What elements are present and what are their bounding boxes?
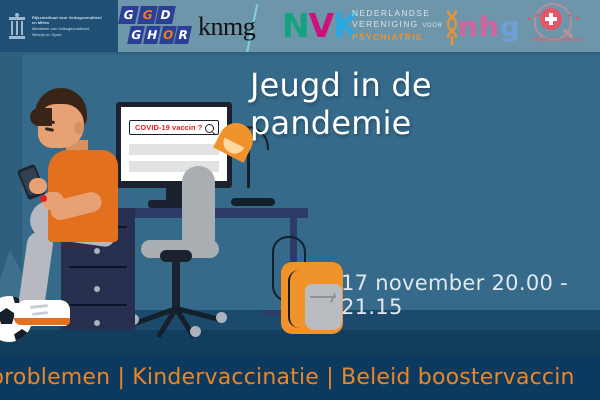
ggd-tile-d: D [155,6,176,24]
nvk-letter-v: V [309,6,334,45]
chair-caster [190,326,201,337]
knmg-logo: knmg [198,8,276,50]
chair-post [172,256,180,312]
nvk-letter-n: N [282,6,309,45]
nhg-part-g: g [500,10,521,43]
nvvp-line-2-small: VOOR [422,23,442,29]
medisch-contact-caption: Medischcontact.nl [522,37,594,43]
rivm-line-4: Welzijn en Sport [32,32,102,38]
search-icon[interactable] [205,124,214,133]
result-placeholder-1 [129,144,219,155]
ggd-ghor-logo: G G D G H O R [120,6,192,46]
partner-logo-band: Rijksinstituut voor Volksgezondheid en M… [0,0,600,52]
medical-cross-icon [540,8,562,30]
rivm-logo-text: Rijksinstituut voor Volksgezondheid en M… [32,15,102,37]
ghor-tile-g: G [127,26,145,44]
rivm-logo: Rijksinstituut voor Volksgezondheid en M… [0,0,118,52]
ghor-tile-h: H [143,26,161,44]
notification-dot-icon [40,195,47,202]
search-input[interactable]: COVID-19 vaccin ? [129,120,219,135]
knmg-wordmark: knmg [198,12,255,42]
boy-ear [74,122,84,134]
backpack-pocket [305,284,342,330]
ggd-tile-g2: G [137,6,158,24]
nvvp-line-1: NEDERLANDSE [352,8,456,19]
nvk-logo: NVK [282,8,348,46]
nvvp-logo: NEDERLANDSE VERENIGING VOOR PSYCHIATRIE [352,8,456,48]
dutch-government-crest-icon [7,13,27,39]
header-divider [0,52,600,55]
page-title: Jeugd in de pandemie [250,66,600,142]
topic-ticker-text: problemen | Kindervaccinatie | Beleid bo… [0,365,575,390]
chair-caster [216,312,227,323]
lamp-foot [231,198,275,206]
search-query-text: COVID-19 vaccin ? [135,123,202,132]
nvvp-line-2-main: VERENIGING [352,19,419,29]
nvvp-line-2: VERENIGING VOOR [352,19,456,32]
topic-ticker: problemen | Kindervaccinatie | Beleid bo… [0,355,600,400]
medisch-contact-logo: Medischcontact.nl [522,6,594,48]
ghor-tile-r: R [174,26,192,44]
event-datetime: 17 november 20.00 - 21.15 [341,271,600,319]
promo-banner: Rijksinstituut voor Volksgezondheid en M… [0,0,600,400]
boy-shoe-sole [14,318,70,325]
boy-hand-upper [29,178,47,194]
ggd-tile-g1: G [118,6,139,24]
nhg-part-nh: nh [458,10,500,43]
nvvp-line-3: PSYCHIATRIE [352,32,456,43]
boy-hair-fringe [30,108,52,126]
nhg-logo: nhg [458,12,514,44]
